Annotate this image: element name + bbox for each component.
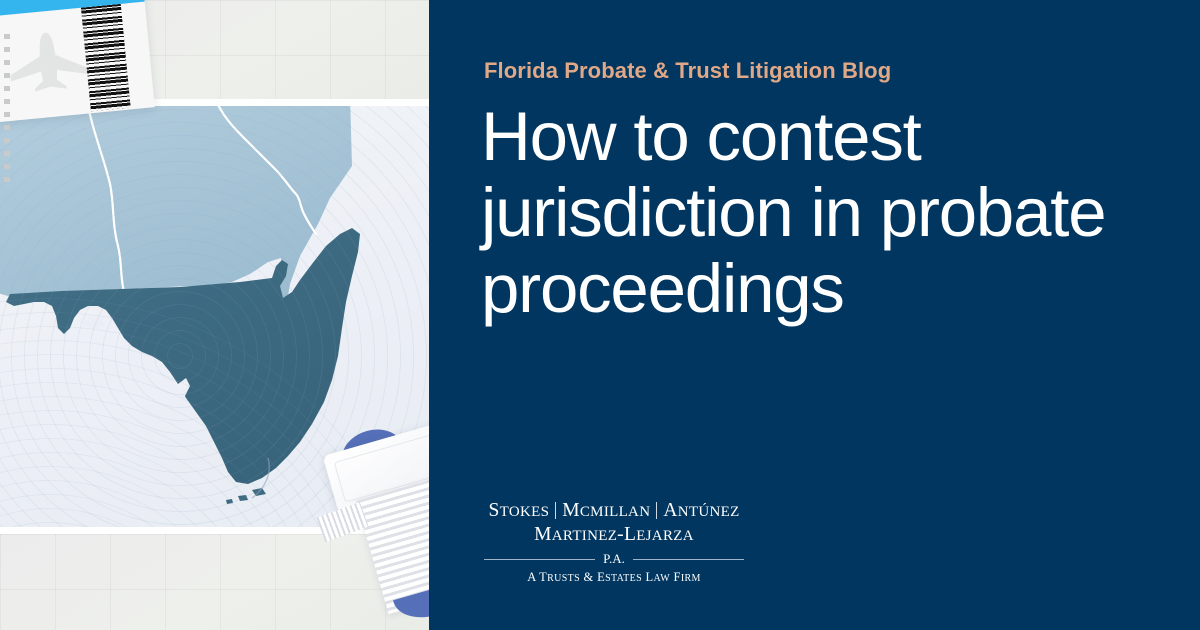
ticket-header-band <box>0 0 145 19</box>
firm-logo[interactable]: STOKESMCMILLANANTÚNEZ MARTINEZ-LEJARZA P… <box>484 500 744 585</box>
firm-name-martinez-lejarza-text: MARTINEZ-LEJARZA <box>534 524 694 545</box>
firm-logo-line-2: MARTINEZ-LEJARZA <box>484 524 744 546</box>
firm-name-stokes-text: STOKES <box>488 500 549 521</box>
logo-divider-2 <box>656 502 657 519</box>
logo-rule-right <box>633 559 744 560</box>
firm-suffix-pa: P.A. <box>595 551 633 567</box>
firm-logo-suffix-row: P.A. <box>484 551 744 567</box>
blog-name-eyebrow: Florida Probate & Trust Litigation Blog <box>484 58 891 84</box>
text-panel: Florida Probate & Trust Litigation Blog … <box>429 0 1200 630</box>
boarding-pass-ticket <box>0 0 155 124</box>
firm-logo-line-1: STOKESMCMILLANANTÚNEZ <box>484 500 744 522</box>
firm-name-antunez: ANTÚNEZ <box>663 500 739 521</box>
illustration-panel <box>0 0 429 630</box>
firm-name-stokes: STOKES <box>488 500 549 521</box>
barcode <box>81 4 131 111</box>
social-share-card: Florida Probate & Trust Litigation Blog … <box>0 0 1200 630</box>
firm-name-antunez-text: ANTÚNEZ <box>663 500 739 521</box>
logo-divider-1 <box>555 502 556 519</box>
ticket-perforation <box>4 34 10 184</box>
page-title: How to contest jurisdiction in probate p… <box>481 99 1181 327</box>
firm-tagline: A TRUSTS & ESTATES LAW FIRM <box>484 570 744 585</box>
firm-name-mcmillan: MCMILLAN <box>562 500 650 521</box>
firm-name-mcmillan-text: MCMILLAN <box>562 500 650 521</box>
logo-rule-left <box>484 559 595 560</box>
